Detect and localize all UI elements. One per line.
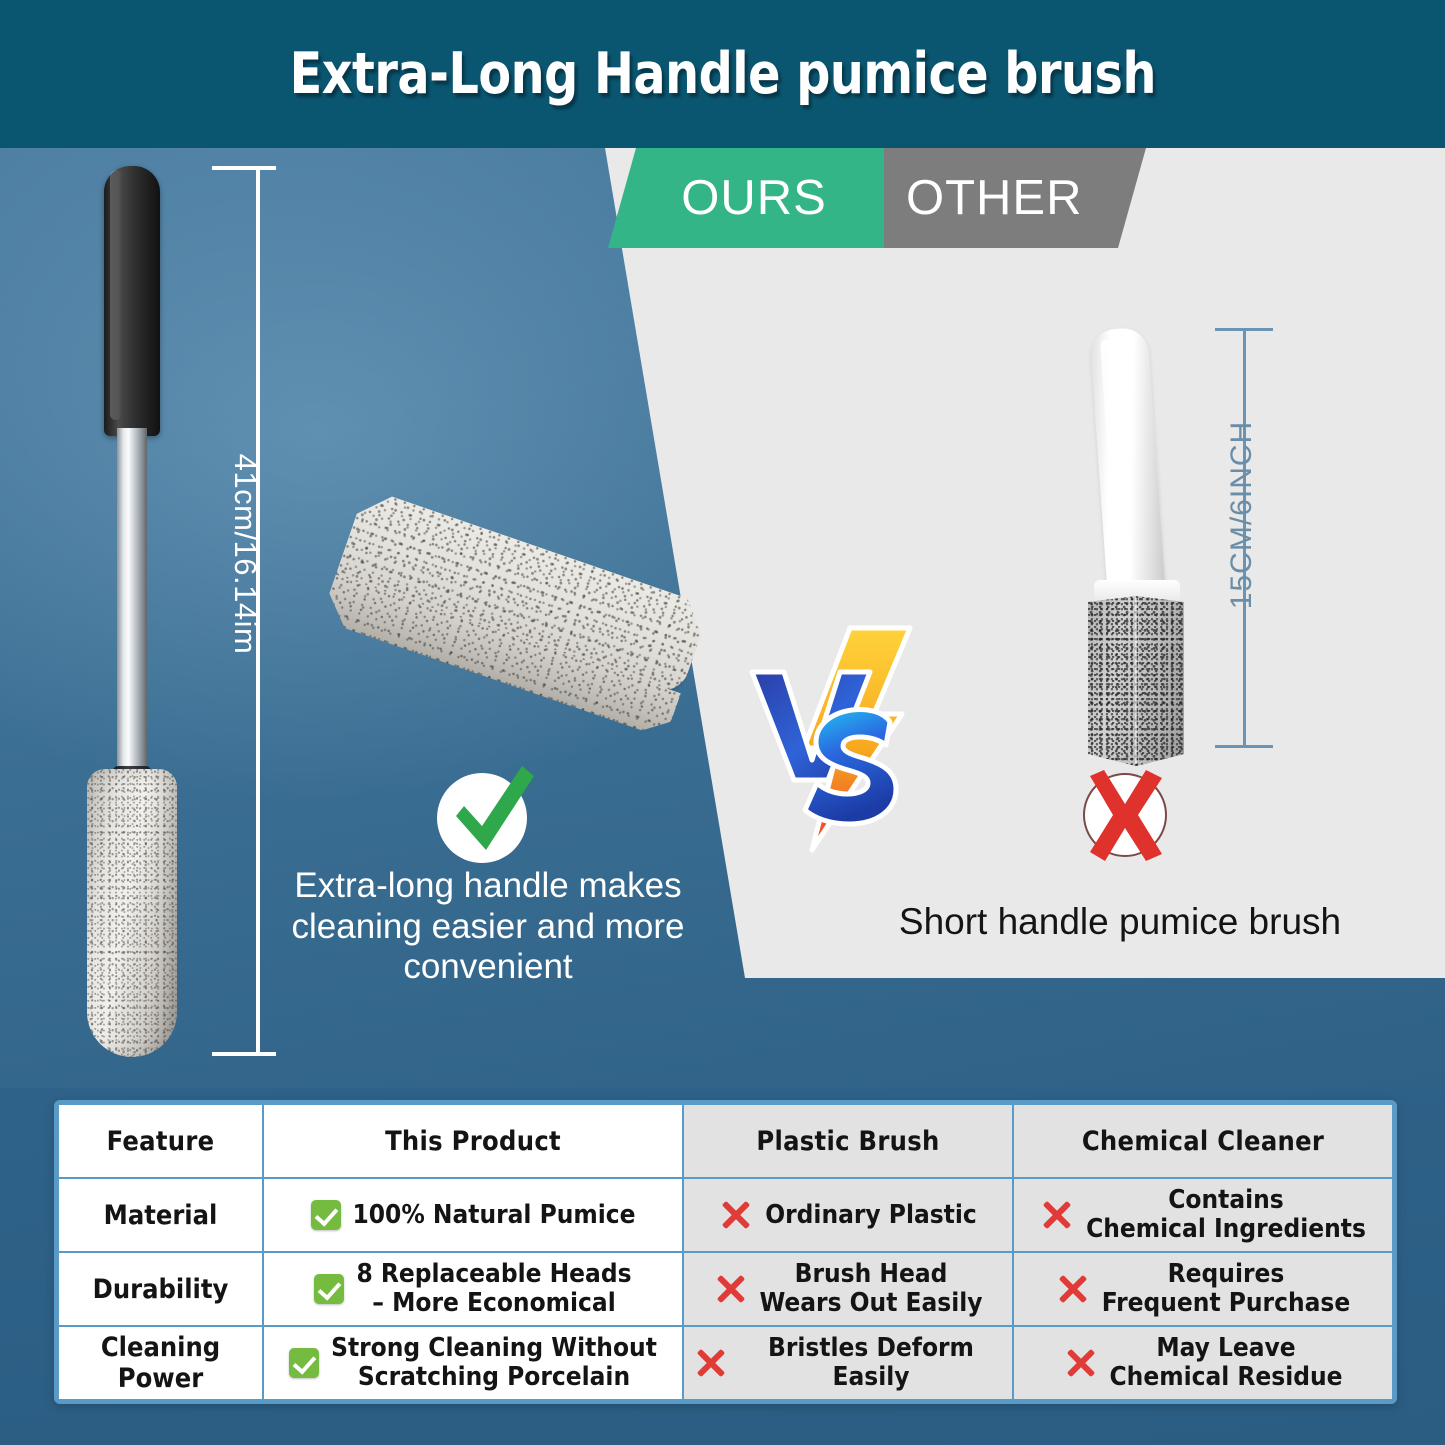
cell-text: May LeaveChemical Residue [1110, 1334, 1343, 1391]
cell-text: 8 Replaceable Heads– More Economical [356, 1260, 631, 1317]
left-dimension-line: 41cm/16.14im [212, 166, 272, 1056]
cell-text: Brush HeadWears Out Easily [760, 1260, 983, 1317]
short-handle-brush-image [1070, 328, 1200, 748]
brush-pumice-head [87, 769, 177, 1057]
cell-plastic-brush: Bristles Deform Easily [683, 1326, 1013, 1400]
brush-steel-shaft [117, 428, 147, 776]
table-header-row: Feature This Product Plastic Brush Chemi… [58, 1104, 1393, 1178]
cross-icon [1040, 1198, 1074, 1232]
brush-rubber-grip [104, 166, 160, 436]
cell-this-product: 8 Replaceable Heads– More Economical [263, 1252, 683, 1326]
red-cross-icon [1072, 762, 1178, 868]
row-feature-label: Material [58, 1178, 263, 1252]
comparison-table: Feature This Product Plastic Brush Chemi… [54, 1100, 1397, 1404]
banner-ours: OURS [608, 148, 900, 248]
cell-text: Strong Cleaning WithoutScratching Porcel… [331, 1334, 657, 1391]
header-plastic-brush: Plastic Brush [683, 1104, 1013, 1178]
check-icon [311, 1200, 341, 1230]
short-brush-handle [1089, 327, 1166, 600]
dimension-cap-top [212, 166, 276, 170]
cell-text: ContainsChemical Ingredients [1086, 1186, 1366, 1243]
header-bar: Extra-Long Handle pumice brush [0, 0, 1445, 148]
cross-icon [694, 1346, 728, 1380]
short-brush-block-edge [1135, 598, 1137, 764]
cell-chemical-cleaner: May LeaveChemical Residue [1013, 1326, 1393, 1400]
cell-text: Ordinary Plastic [765, 1201, 976, 1230]
table-row: Material 100% Natural Pumice Ordinary Pl… [58, 1178, 1393, 1252]
cell-this-product: 100% Natural Pumice [263, 1178, 683, 1252]
row-feature-label: Cleaning Power [58, 1326, 263, 1400]
versus-logo [742, 610, 927, 860]
banner-other-label: OTHER [884, 170, 1083, 226]
cell-text: RequiresFrequent Purchase [1102, 1260, 1350, 1317]
table-row: Cleaning Power Strong Cleaning WithoutSc… [58, 1326, 1393, 1400]
left-product-caption: Extra-long handle makes cleaning easier … [268, 866, 708, 988]
cross-icon [719, 1198, 753, 1232]
dimension-cap-bottom [212, 1052, 276, 1056]
cross-icon [1056, 1272, 1090, 1306]
header-chemical-cleaner: Chemical Cleaner [1013, 1104, 1393, 1178]
cross-icon [714, 1272, 748, 1306]
infographic-page: Extra-Long Handle pumice brush OURS OTHE… [0, 0, 1445, 1445]
left-dimension-label: 41cm/16.14im [227, 439, 263, 669]
cross-icon [1064, 1346, 1098, 1380]
cell-plastic-brush: Ordinary Plastic [683, 1178, 1013, 1252]
cell-chemical-cleaner: ContainsChemical Ingredients [1013, 1178, 1393, 1252]
header-this-product: This Product [263, 1104, 683, 1178]
cell-plastic-brush: Brush HeadWears Out Easily [683, 1252, 1013, 1326]
cell-this-product: Strong Cleaning WithoutScratching Porcel… [263, 1326, 683, 1400]
check-icon [314, 1274, 344, 1304]
table-row: Durability 8 Replaceable Heads– More Eco… [58, 1252, 1393, 1326]
cell-text: 100% Natural Pumice [353, 1201, 636, 1230]
long-handle-brush-image [92, 166, 172, 1056]
banner-ours-label: OURS [681, 170, 827, 226]
header-feature: Feature [58, 1104, 263, 1178]
cell-text: Bristles Deform Easily [740, 1334, 1002, 1391]
right-product-caption: Short handle pumice brush [830, 900, 1410, 944]
green-check-icon [430, 760, 540, 870]
right-dimension-label: 15CM/6INCH [1225, 400, 1259, 630]
dimension-cap-bottom [1215, 745, 1273, 748]
right-dimension-line: 15CM/6INCH [1215, 328, 1275, 748]
row-feature-label: Durability [58, 1252, 263, 1326]
banner-other: OTHER [884, 148, 1146, 248]
check-icon [289, 1348, 319, 1378]
cell-chemical-cleaner: RequiresFrequent Purchase [1013, 1252, 1393, 1326]
page-title: Extra-Long Handle pumice brush [289, 41, 1155, 107]
comparison-stage: OURS OTHER 41cm/16.14im [0, 148, 1445, 1088]
